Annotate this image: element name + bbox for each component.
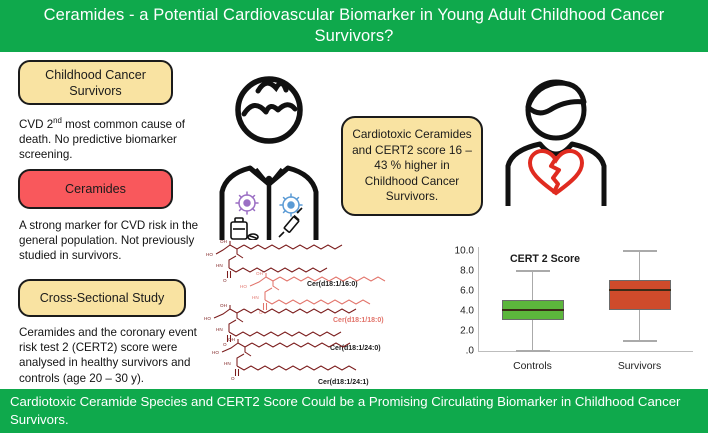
pill-label: Childhood Cancer Survivors — [26, 67, 165, 99]
atom-label-HO: HO — [206, 252, 213, 257]
child-patient-illustration — [196, 72, 342, 240]
cancer-cell-icon-blue — [280, 194, 302, 216]
pill-label: Ceramides — [65, 181, 126, 197]
cvd-prefix: CVD 2 — [19, 118, 53, 131]
whisker-cap — [516, 270, 550, 272]
whisker-cap — [516, 350, 550, 352]
pill-cross-sectional-study: Cross-Sectional Study — [18, 279, 186, 317]
pill-ceramides: Ceramides — [18, 169, 173, 209]
median-line — [609, 289, 671, 291]
summary-sidebar: Childhood Cancer Survivors CVD 2nd most … — [0, 55, 208, 385]
molecule-label-2: Cer(d18:1/24:0) — [330, 345, 381, 352]
atom-label-OH: OH — [228, 337, 235, 342]
molecule-label-0: Cer(d18:1/16:0) — [307, 281, 358, 288]
ordinal-suffix: nd — [53, 116, 62, 125]
atom-label-OH: OH — [220, 303, 227, 308]
adult-survivor-illustration — [494, 74, 618, 206]
structure-cer-24-0: OH HO HN O Cer(d18:1/24:0) — [204, 303, 381, 352]
molecule-label-1: Cer(d18:1/18:0) — [333, 317, 384, 324]
y-tick-label: 8.0 — [460, 266, 474, 277]
structure-cer-16-0: OH HO HN O Cer(d18:1/16:0) — [206, 239, 358, 288]
y-tick-label: 4.0 — [460, 306, 474, 317]
page-title: Ceramides - a Potential Cardiovascular B… — [0, 5, 708, 47]
median-line — [502, 309, 564, 311]
text-cross-sectional-study: Ceramides and the coronary event risk te… — [19, 325, 205, 386]
atom-label-HN: HN — [252, 295, 259, 300]
atom-label-O: O — [223, 342, 227, 347]
y-tick-label: 10.0 — [455, 246, 474, 257]
text-childhood-cancer-survivors: CVD 2nd most common cause of death. No p… — [19, 113, 201, 162]
x-tick-label: Controls — [513, 361, 552, 372]
y-tick-label: 2.0 — [460, 326, 474, 337]
atom-label-OH: OH — [256, 271, 263, 276]
callout-text: Cardiotoxic Ceramides and CERT2 score 16… — [350, 127, 474, 204]
x-tick-label: Survivors — [618, 361, 661, 372]
graphical-abstract: Ceramides - a Potential Cardiovascular B… — [0, 0, 708, 433]
ceramide-structure-diagram: OH HO HN O Cer(d18:1/16:0) OH HO HN O — [202, 238, 440, 386]
pill-label: Cross-Sectional Study — [40, 290, 165, 306]
y-tick-label: 6.0 — [460, 286, 474, 297]
atom-label-HN: HN — [216, 327, 223, 332]
whisker-cap — [623, 250, 657, 252]
y-tick-label: .0 — [466, 346, 474, 357]
conclusion-text: Cardiotoxic Ceramide Species and CERT2 S… — [0, 393, 708, 429]
atom-label-O: O — [223, 278, 227, 283]
atom-label-HO: HO — [240, 284, 247, 289]
molecule-label-3: Cer(d18:1/24:1) — [318, 379, 369, 386]
atom-label-HO: HO — [204, 316, 211, 321]
plot-area: ControlsSurvivors — [478, 247, 693, 352]
y-axis: .02.04.06.08.010.0 — [438, 243, 474, 355]
atom-label-HN: HN — [216, 263, 223, 268]
cert2-boxplot-chart: CERT 2 Score .02.04.06.08.010.0 Controls… — [438, 243, 700, 383]
whisker-cap — [623, 340, 657, 342]
conclusion-banner: Cardiotoxic Ceramide Species and CERT2 S… — [0, 389, 708, 433]
atom-label-O: O — [231, 376, 235, 381]
atom-label-OH: OH — [220, 239, 227, 244]
text-ceramides: A strong marker for CVD risk in the gene… — [19, 218, 201, 264]
key-finding-callout: Cardiotoxic Ceramides and CERT2 score 16… — [341, 116, 483, 216]
atom-label-HN: HN — [224, 361, 231, 366]
cancer-cell-icon-purple — [236, 192, 258, 214]
pill-childhood-cancer-survivors: Childhood Cancer Survivors — [18, 60, 173, 105]
structure-cer-18-0: OH HO HN O Cer(d18:1/18:0) — [240, 271, 385, 324]
title-banner: Ceramides - a Potential Cardiovascular B… — [0, 0, 708, 52]
box-survivors — [609, 280, 671, 310]
atom-label-HO: HO — [212, 350, 219, 355]
